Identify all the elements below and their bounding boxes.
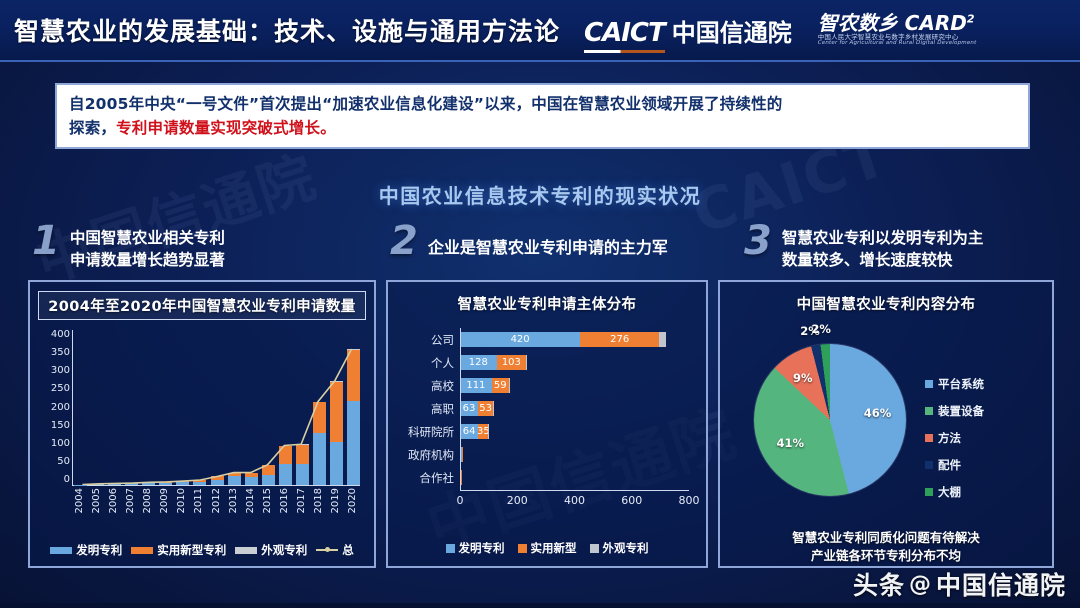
chart1-x-tick: 2009 — [159, 488, 172, 513]
chart1-legend-label: 发明专利 — [76, 542, 122, 558]
chart1-bar — [262, 330, 275, 485]
chart1-segment-invention — [330, 442, 343, 485]
chart1-bar — [347, 330, 360, 485]
chart1-bars — [74, 330, 360, 485]
legend-swatch-icon — [925, 488, 933, 496]
chart1-x-tick: 2004 — [74, 488, 87, 513]
chart1-x-tick: 2011 — [193, 488, 206, 513]
chart3-legend-label: 装置设备 — [938, 403, 984, 419]
chart2-legend-item: 发明专利 — [446, 540, 505, 556]
chart2-category-label: 高校 — [388, 378, 460, 394]
chart1-y-tick: 0 — [36, 475, 70, 485]
column-1: 1 中国智慧农业相关专利 申请数量增长趋势显著 2004年至2020年中国智慧农… — [28, 222, 376, 568]
card-logo: 智农数乡 CARD2 中国人民大学智慧农业与数字乡村发展研究中心 Center … — [818, 13, 977, 47]
chart1-legend-item: 实用新型专利 — [131, 542, 226, 558]
chart1-x-tick: 2014 — [245, 488, 258, 513]
chart3-legend-label: 方法 — [938, 430, 961, 446]
pie-slice-value: 9% — [793, 371, 813, 385]
chart1-x-tick: 2007 — [125, 488, 138, 513]
chart1-segment-invention — [125, 483, 138, 485]
chart2-row: 政府机构 — [388, 443, 706, 466]
chart1-bar — [313, 330, 326, 485]
chart1-bar — [91, 330, 104, 485]
chart1-legend-label: 外观专利 — [261, 542, 307, 558]
pie-slice-value: 46% — [864, 406, 892, 420]
chart1-legend-label-total: 总 — [342, 542, 354, 558]
chart2-x-tick: 200 — [507, 494, 528, 507]
chart2-title: 智慧农业专利申请主体分布 — [388, 282, 706, 314]
chart-panel-applicants: 智慧农业专利申请主体分布 公司420276个人128103高校11159高职63… — [386, 280, 708, 568]
column-3: 3 智慧农业专利以发明专利为主 数量较多、增长速度较快 中国智慧农业专利内容分布… — [718, 222, 1054, 568]
chart2-legend: 发明专利实用新型外观专利 — [388, 540, 706, 556]
chart1-segment-utility — [262, 465, 275, 475]
chart1-bar — [125, 330, 138, 485]
chart2-bar: 6435 — [460, 424, 489, 439]
chart1-x-tick: 2019 — [330, 488, 343, 513]
column-3-number: 3 — [744, 222, 772, 260]
chart1-bar — [279, 330, 292, 485]
chart1-bar — [211, 330, 224, 485]
chart1-x-axis-line — [72, 485, 360, 486]
legend-swatch-icon — [131, 547, 153, 554]
chart2-bar: 11159 — [460, 378, 509, 393]
bottom-watermark: 头条 @ 中国信通院 — [853, 566, 1066, 602]
section-title: 中国农业信息技术专利的现实状况 — [0, 180, 1080, 209]
pie-footer-note: 智慧农业专利同质化问题有待解决 产业链各环节专利分布不均 — [720, 529, 1052, 564]
chart1-segment-utility — [296, 445, 309, 464]
chart1-y-tick: 200 — [36, 403, 70, 413]
chart-panel-yearly: 2004年至2020年中国智慧农业专利申请数量 4003503002502001… — [28, 280, 376, 568]
chart1-y-tick: 50 — [36, 457, 70, 467]
chart1-bar — [193, 330, 206, 485]
legend-swatch-icon — [925, 461, 933, 469]
chart1-x-labels: 2004200520062007200820092010201120122013… — [74, 488, 360, 513]
column-1-header: 1 中国智慧农业相关专利 申请数量增长趋势显著 — [28, 222, 376, 280]
chart1-segment-utility — [330, 382, 343, 442]
chart2-rows: 公司420276个人128103高校11159高职6353科研院所6435政府机… — [388, 328, 706, 489]
card-logo-title: 智农数乡 CARD2 — [818, 13, 977, 34]
chart1-x-tick: 2008 — [142, 488, 155, 513]
chart1-legend-item: 外观专利 — [235, 542, 307, 558]
page-title: 智慧农业的发展基础：技术、设施与通用方法论 — [14, 12, 560, 48]
chart2-row: 合作社 — [388, 466, 706, 489]
chart2-x-axis-line — [460, 490, 689, 491]
chart1-bar — [330, 330, 343, 485]
legend-swatch-icon — [925, 380, 933, 388]
chart1-bar — [142, 330, 155, 485]
chart1-bar — [228, 330, 241, 485]
chart1-x-tick: 2005 — [91, 488, 104, 513]
card-logo-sup: 2 — [967, 13, 975, 26]
chart1-y-tick: 250 — [36, 384, 70, 394]
chart2-legend-item: 实用新型 — [518, 540, 577, 556]
slide-header: 智慧农业的发展基础：技术、设施与通用方法论 CAICT 中国信通院 智农数乡 C… — [0, 0, 1080, 62]
chart2-x-tick: 600 — [621, 494, 642, 507]
footer-bar — [0, 603, 1080, 608]
chart2-track: 6353 — [460, 397, 706, 420]
chart1-x-tick: 2017 — [296, 488, 309, 513]
chart1-segment-invention — [211, 480, 224, 485]
column-1-heading-line2: 申请数量增长趋势显著 — [70, 251, 225, 269]
chart1-segment-utility — [313, 402, 326, 433]
column-2: 2 企业是智慧农业专利申请的主力军 智慧农业专利申请主体分布 公司420276个… — [386, 222, 708, 568]
legend-swatch-icon — [925, 407, 933, 415]
legend-swatch-icon — [590, 544, 599, 553]
chart1-bar — [245, 330, 258, 485]
chart3-legend-item: 方法 — [925, 430, 984, 446]
chart2-x-tick: 400 — [564, 494, 585, 507]
chart3-legend-item: 平台系统 — [925, 376, 984, 392]
chart2-bar: 420276 — [460, 332, 666, 347]
chart2-segment-invention: 128 — [460, 355, 497, 370]
chart1-legend-item-total: 总 — [316, 542, 354, 558]
chart1-bar — [176, 330, 189, 485]
chart1-x-tick: 2013 — [228, 488, 241, 513]
chart2-segment-invention: 111 — [460, 378, 492, 393]
chart3-plot: 46%41%9%2%2% 平台系统装置设备方法配件大棚 — [720, 320, 1052, 525]
chart2-category-label: 科研院所 — [388, 424, 460, 440]
caict-logo-label: 中国信通院 — [672, 13, 792, 48]
bottom-watermark-text: 中国信通院 — [936, 566, 1066, 602]
chart2-legend-label: 发明专利 — [459, 540, 505, 556]
callout-line-1: 自2005年中央“一号文件”首次提出“加速农业信息化建设”以来，中国在智慧农业领… — [69, 92, 1016, 116]
legend-swatch-icon — [925, 434, 933, 442]
chart1-bar — [74, 330, 87, 485]
chart2-x-tick: 800 — [679, 494, 700, 507]
chart1-segment-invention — [176, 482, 189, 485]
chart1-segment-invention — [142, 483, 155, 485]
chart2-row: 高校11159 — [388, 374, 706, 397]
chart3-legend-label: 平台系统 — [938, 376, 984, 392]
legend-swatch-icon — [446, 544, 455, 553]
column-1-heading-line1: 中国智慧农业相关专利 — [70, 229, 225, 247]
callout-highlight: 专利申请数量实现突破式增长。 — [116, 119, 336, 137]
chart2-category-label: 个人 — [388, 355, 460, 371]
legend-swatch-icon — [518, 544, 527, 553]
chart2-segment-invention: 420 — [460, 332, 580, 347]
chart3-legend-item: 配件 — [925, 457, 984, 473]
chart2-track: 11159 — [460, 374, 706, 397]
legend-line-icon — [316, 549, 338, 551]
chart2-row: 个人128103 — [388, 351, 706, 374]
chart2-category-label: 政府机构 — [388, 447, 460, 463]
card-logo-main: 智农数乡 CARD — [818, 11, 967, 35]
chart2-segment-utility: 53 — [478, 401, 493, 416]
chart1-segment-utility — [347, 350, 360, 402]
chart1-x-tick: 2018 — [313, 488, 326, 513]
bottom-watermark-prefix: 头条 — [853, 566, 905, 602]
chart3-legend-item: 装置设备 — [925, 403, 984, 419]
chart2-segment-design — [509, 378, 510, 393]
legend-swatch-icon — [50, 547, 72, 554]
slide-root: 中国信通院 中国信通院 CAICT 智慧农业的发展基础：技术、设施与通用方法论 … — [0, 0, 1080, 608]
chart1-segment-utility — [279, 446, 292, 465]
chart1-segment-invention — [296, 464, 309, 485]
column-3-heading-line2: 数量较多、增长速度较快 — [782, 251, 953, 269]
chart1-segment-invention — [262, 475, 275, 485]
pie-slice-value: 2% — [811, 322, 831, 336]
chart2-segment-invention: 64 — [460, 424, 478, 439]
chart2-track — [460, 466, 706, 489]
chart1-title-wrap: 2004年至2020年中国智慧农业专利申请数量 — [30, 282, 374, 320]
chart1-legend-label: 实用新型专利 — [157, 542, 226, 558]
chart1-segment-invention — [108, 484, 121, 485]
callout-line-2: 探索，专利申请数量实现突破式增长。 — [69, 116, 1016, 140]
caict-logo-mark: CAICT — [584, 18, 665, 48]
chart2-track: 128103 — [460, 351, 706, 374]
chart2-bar: 6353 — [460, 401, 493, 416]
chart1-bar — [159, 330, 172, 485]
column-3-heading-line1: 智慧农业专利以发明专利为主 — [782, 229, 984, 247]
chart2-bar: 128103 — [460, 355, 527, 370]
column-2-heading: 企业是智慧农业专利申请的主力军 — [428, 222, 668, 259]
chart1-y-tick: 100 — [36, 439, 70, 449]
chart1-y-tick: 300 — [36, 366, 70, 376]
chart2-category-label: 公司 — [388, 332, 460, 348]
column-2-header: 2 企业是智慧农业专利申请的主力军 — [386, 222, 708, 280]
chart2-segment-design — [659, 332, 665, 347]
card-logo-subtitle-en: Center for Agricultural and Rural Digita… — [818, 41, 977, 47]
chart2-segment-utility: 59 — [492, 378, 509, 393]
chart-panel-content: 中国智慧农业专利内容分布 46%41%9%2%2% 平台系统装置设备方法配件大棚… — [718, 280, 1054, 568]
chart3-legend-item: 大棚 — [925, 484, 984, 500]
chart3-legend: 平台系统装置设备方法配件大棚 — [925, 376, 984, 511]
chart1-x-tick: 2006 — [108, 488, 121, 513]
chart2-segment-design — [526, 355, 527, 370]
chart1-title: 2004年至2020年中国智慧农业专利申请数量 — [38, 291, 365, 320]
chart2-plot: 公司420276个人128103高校11159高职6353科研院所6435政府机… — [388, 328, 706, 508]
callout-text-2: 探索， — [69, 119, 116, 137]
chart1-y-tick: 150 — [36, 421, 70, 431]
chart2-segment-utility: 35 — [478, 424, 488, 439]
chart1-plot: 400350300250200150100500 200420052006200… — [30, 330, 374, 502]
chart1-x-tick: 2010 — [176, 488, 189, 513]
chart2-segment-invention: 63 — [460, 401, 478, 416]
chart1-segment-invention — [245, 477, 258, 485]
legend-swatch-icon — [235, 547, 257, 554]
pie-footer-line-2: 产业链各环节专利分布不均 — [720, 547, 1052, 565]
chart2-segment-utility — [462, 447, 463, 462]
chart2-track: 6435 — [460, 420, 706, 443]
column-1-number: 1 — [32, 222, 60, 260]
chart1-legend-item: 发明专利 — [50, 542, 122, 558]
chart1-x-tick: 2020 — [347, 488, 360, 513]
callout-box: 自2005年中央“一号文件”首次提出“加速农业信息化建设”以来，中国在智慧农业领… — [55, 83, 1030, 149]
chart2-category-label: 合作社 — [388, 470, 460, 486]
column-3-heading: 智慧农业专利以发明专利为主 数量较多、增长速度较快 — [782, 222, 984, 272]
chart2-x-tick: 0 — [457, 494, 464, 507]
chart2-row: 公司420276 — [388, 328, 706, 351]
chart1-bar — [108, 330, 121, 485]
chart1-segment-invention — [228, 476, 241, 485]
chart1-legend: 发明专利实用新型专利外观专利总 — [30, 542, 374, 558]
chart1-segment-invention — [159, 483, 172, 485]
chart2-legend-item: 外观专利 — [590, 540, 649, 556]
callout-text-1: 自2005年中央“一号文件”首次提出“加速农业信息化建设”以来，中国在智慧农业领… — [69, 95, 783, 113]
chart2-row: 高职6353 — [388, 397, 706, 420]
chart3-title: 中国智慧农业专利内容分布 — [720, 282, 1052, 314]
chart1-y-tick: 400 — [36, 330, 70, 340]
chart2-track — [460, 443, 706, 466]
column-3-header: 3 智慧农业专利以发明专利为主 数量较多、增长速度较快 — [718, 222, 1054, 280]
column-1-heading: 中国智慧农业相关专利 申请数量增长趋势显著 — [70, 222, 225, 272]
column-2-number: 2 — [390, 222, 418, 260]
at-icon: @ — [909, 572, 932, 597]
chart3-legend-label: 大棚 — [938, 484, 961, 500]
chart2-y-axis-line — [460, 328, 461, 490]
chart2-track: 420276 — [460, 328, 706, 351]
chart1-segment-invention — [91, 484, 104, 485]
chart2-legend-label: 实用新型 — [531, 540, 577, 556]
chart2-legend-label: 外观专利 — [603, 540, 649, 556]
chart1-segment-invention — [193, 482, 206, 485]
chart2-segment-utility: 276 — [580, 332, 659, 347]
chart1-segment-invention — [313, 433, 326, 485]
chart1-y-axis: 400350300250200150100500 — [36, 330, 70, 485]
chart1-y-tick: 350 — [36, 348, 70, 358]
chart1-y-axis-line — [72, 330, 73, 485]
chart1-segment-invention — [279, 464, 292, 485]
chart1-x-tick: 2016 — [279, 488, 292, 513]
chart2-row: 科研院所6435 — [388, 420, 706, 443]
chart2-segment-utility: 103 — [497, 355, 526, 370]
pie-slice-value: 41% — [776, 436, 804, 450]
chart3-legend-label: 配件 — [938, 457, 961, 473]
chart1-segment-invention — [347, 401, 360, 485]
chart1-x-tick: 2015 — [262, 488, 275, 513]
chart1-x-tick: 2012 — [211, 488, 224, 513]
caict-logo: CAICT 中国信通院 — [584, 13, 792, 48]
chart1-bar — [296, 330, 309, 485]
chart2-category-label: 高职 — [388, 401, 460, 417]
pie-footer-line-1: 智慧农业专利同质化问题有待解决 — [720, 529, 1052, 547]
